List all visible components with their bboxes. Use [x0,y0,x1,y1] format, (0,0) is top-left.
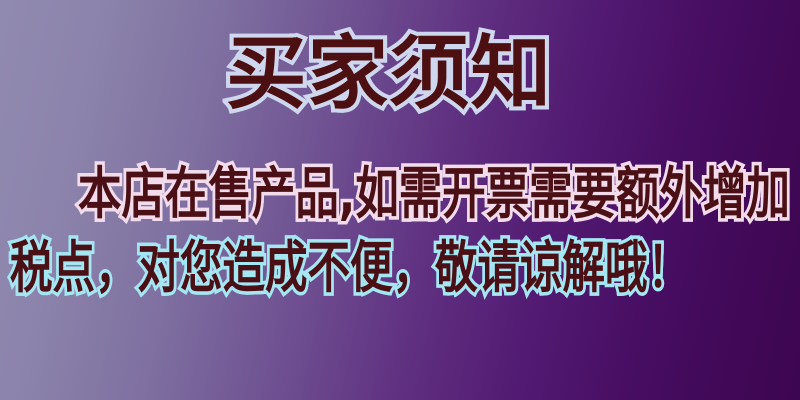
banner-body-line-1-fill: 本店在售产品,如需开票需要额外增加 [78,167,790,223]
banner-title-fill: 买家须知 [226,34,552,114]
promo-banner: 买家须知 买家须知 本店在售产品,如需开票需要额外增加 本店在售产品,如需开票需… [0,0,800,400]
banner-body-line-2-fill: 税点，对您造成不便，敬请谅解哦！ [10,241,690,297]
